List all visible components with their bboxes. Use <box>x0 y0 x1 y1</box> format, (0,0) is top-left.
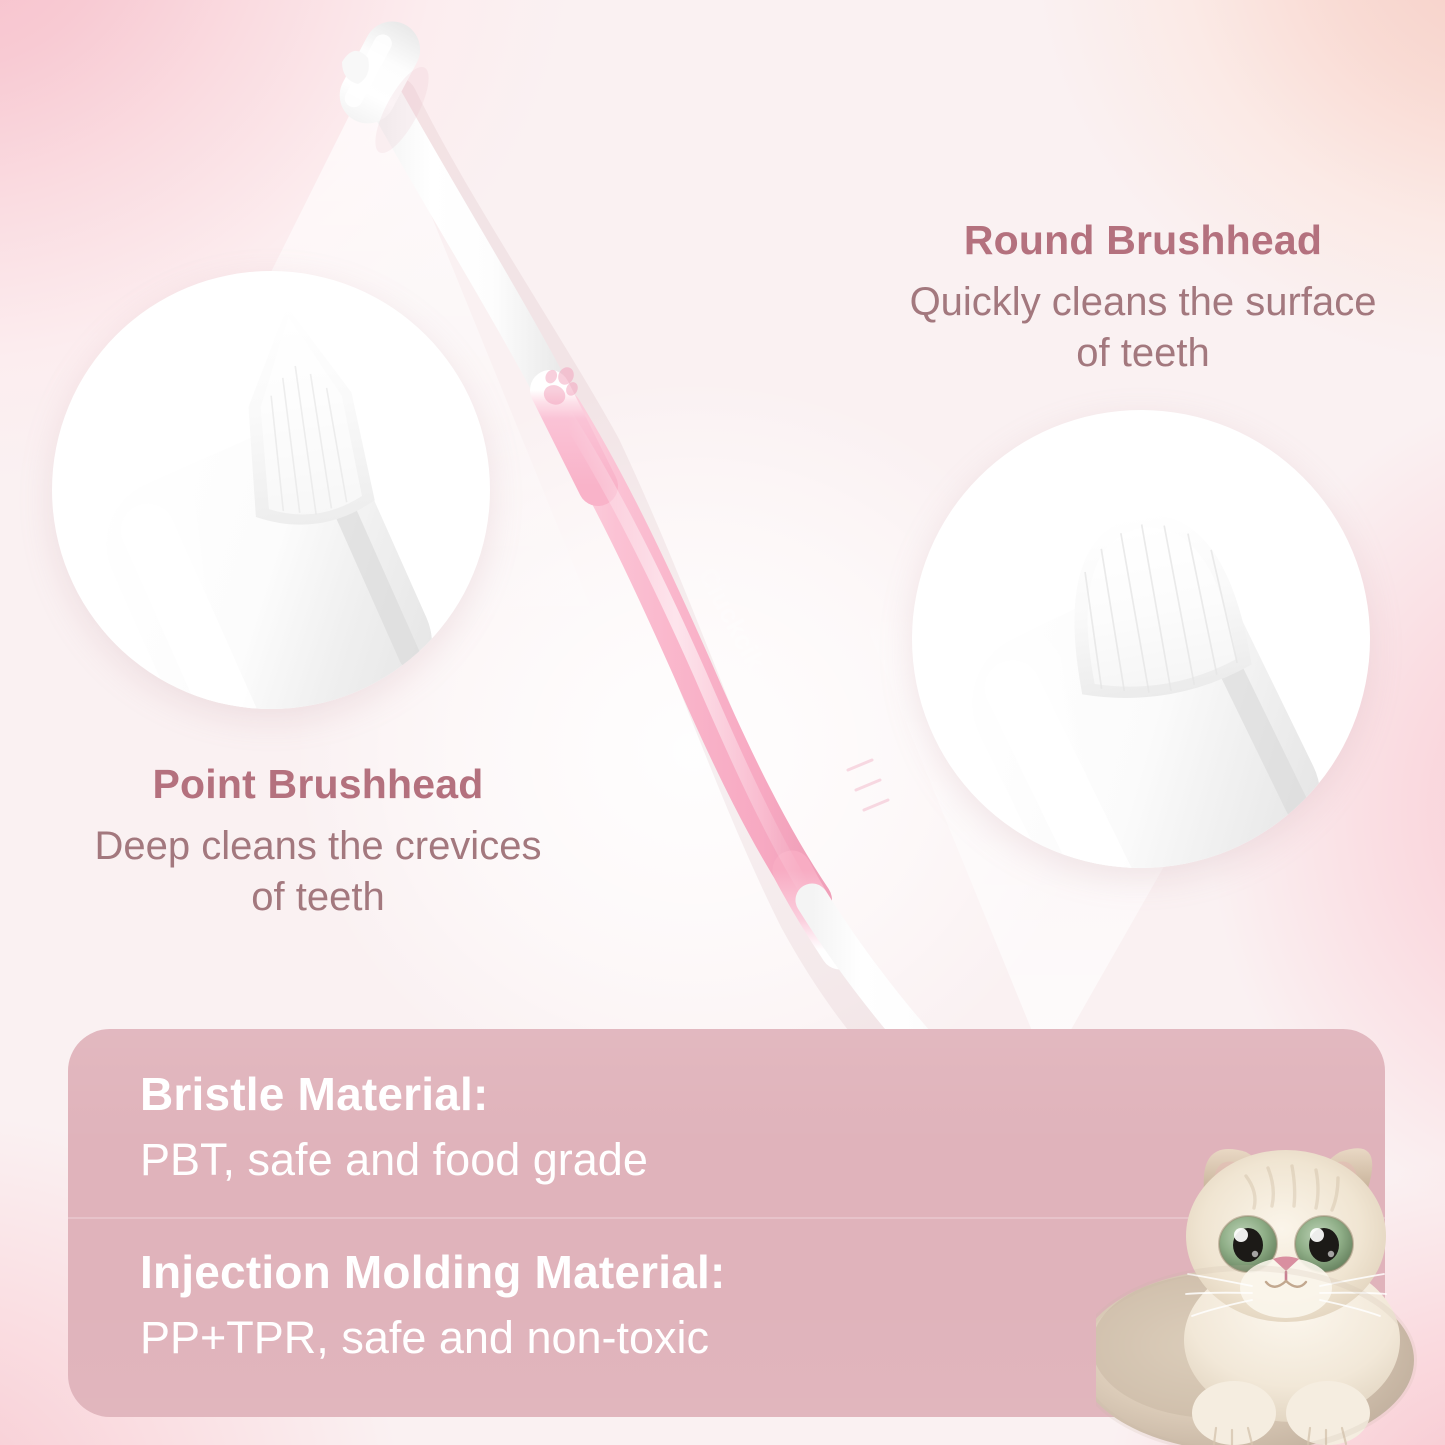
callout-round-brushhead: Round Brushhead Quickly cleans the surfa… <box>838 218 1445 379</box>
callout-point-description: Deep cleans the crevices of teeth <box>18 821 618 923</box>
product-toothbrush: Cluckcik <box>300 18 1160 1198</box>
callout-round-desc-line-2: of teeth <box>838 328 1445 379</box>
spec-bristle-material: Bristle Material: PBT, safe and food gra… <box>140 1069 648 1187</box>
callout-round-desc-line-1: Quickly cleans the surface <box>838 277 1445 328</box>
spec-bristle-value: PBT, safe and food grade <box>140 1133 648 1187</box>
callout-point-desc-line-1: Deep cleans the crevices <box>18 821 618 872</box>
infographic-canvas: Cluckcik Round Brushhead Quickly clea <box>0 0 1445 1445</box>
spec-injection-value: PP+TPR, safe and non-toxic <box>140 1311 726 1365</box>
callout-round-title: Round Brushhead <box>838 218 1445 263</box>
callout-point-desc-line-2: of teeth <box>18 872 618 923</box>
spec-bristle-label: Bristle Material: <box>140 1069 648 1121</box>
spec-injection-label: Injection Molding Material: <box>140 1247 726 1299</box>
callout-point-title: Point Brushhead <box>18 762 618 807</box>
cat-photo <box>1096 1128 1445 1445</box>
spec-injection-molding-material: Injection Molding Material: PP+TPR, safe… <box>140 1247 726 1365</box>
callout-point-brushhead: Point Brushhead Deep cleans the crevices… <box>18 762 618 923</box>
callout-round-description: Quickly cleans the surface of teeth <box>838 277 1445 379</box>
